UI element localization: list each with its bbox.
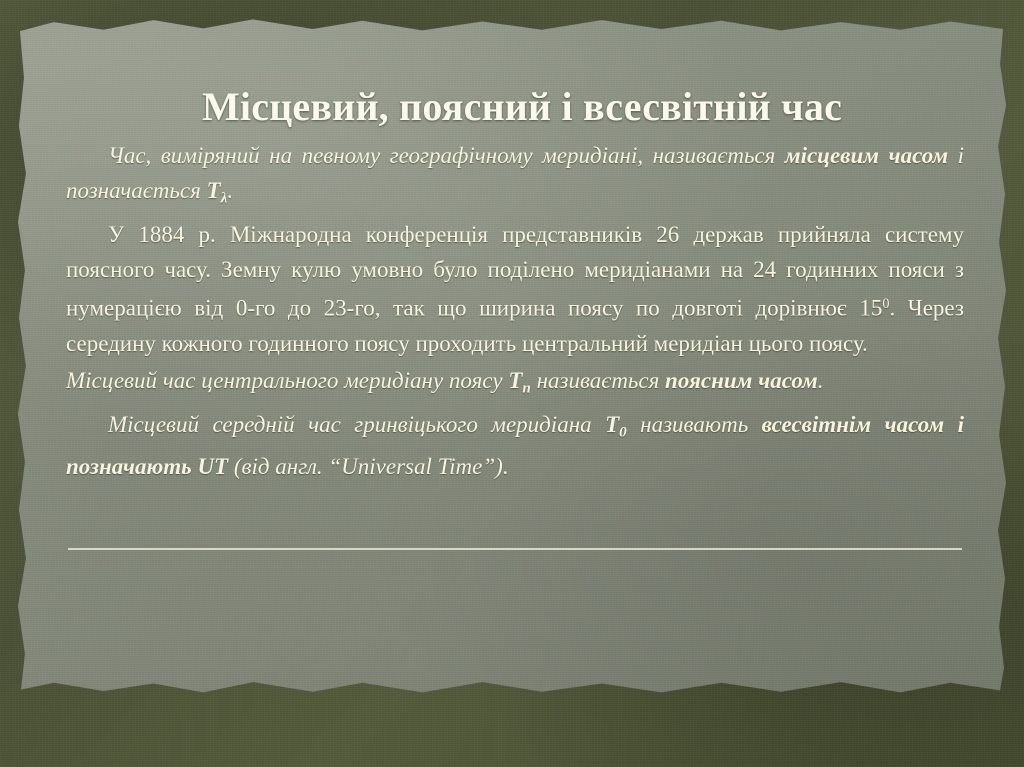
p4-variable-symbol: T bbox=[605, 412, 619, 437]
p2-text-a: У 1884 р. Міжнародна конференція предста… bbox=[66, 222, 964, 320]
paragraph-2: У 1884 р. Міжнародна конференція предста… bbox=[66, 217, 964, 360]
p1-variable-symbol: T bbox=[207, 178, 221, 203]
paragraph-4: Місцевий середній час гринвіцького мерид… bbox=[66, 407, 964, 484]
p1-emphasis-mistsevym-chasom: місцевим часом bbox=[785, 143, 948, 168]
p3-text-b: називається bbox=[531, 368, 665, 393]
paragraph-1: Час, виміряний на певному географічному … bbox=[66, 138, 964, 215]
p3-emphasis-poyasnym-chasom: поясним часом bbox=[665, 368, 818, 393]
p4-variable-subscript: 0 bbox=[619, 423, 627, 440]
p4-text-c: (від англ. “Universal Time”). bbox=[228, 454, 508, 479]
p1-variable-t-lambda: Tλ bbox=[207, 178, 228, 203]
p3-variable-t-n: Tn bbox=[508, 368, 531, 393]
slide-title: Місцевий, поясний і всесвітній час bbox=[62, 83, 982, 131]
slide-content: Місцевий, поясний і всесвітній час Час, … bbox=[0, 0, 1024, 767]
p4-variable-t-zero: T0 bbox=[605, 412, 627, 437]
slide-body: Час, виміряний на певному географічному … bbox=[66, 138, 964, 486]
p4-text-b: називають bbox=[627, 412, 762, 437]
slide: Місцевий, поясний і всесвітній час Час, … bbox=[0, 0, 1024, 767]
p3-variable-subscript: n bbox=[522, 379, 530, 396]
p1-text-c: . bbox=[227, 178, 233, 203]
stray-horizontal-rule bbox=[68, 548, 962, 550]
p4-text-a: Місцевий середній час гринвіцького мерид… bbox=[108, 412, 605, 437]
p1-text-a: Час, виміряний на певному географічному … bbox=[108, 143, 785, 168]
p3-variable-symbol: T bbox=[508, 368, 522, 393]
p3-text-c: . bbox=[818, 368, 824, 393]
p3-text-a: Місцевий час центрального меридіану пояс… bbox=[66, 368, 508, 393]
paragraph-3: Місцевий час центрального меридіану пояс… bbox=[66, 363, 964, 405]
